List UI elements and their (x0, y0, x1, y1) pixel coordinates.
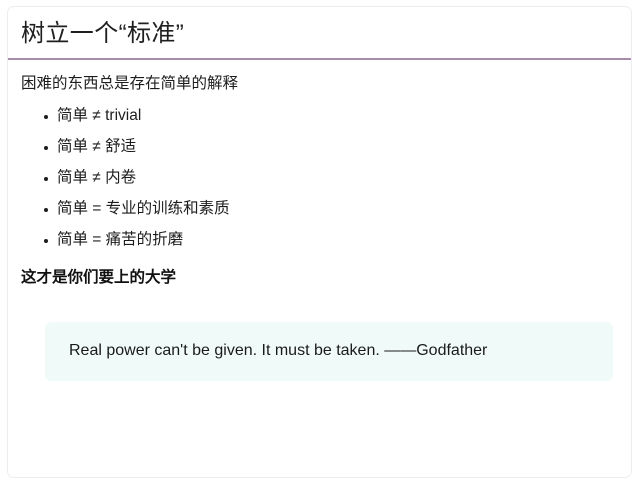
list-item: 简单 = 痛苦的折磨 (21, 230, 618, 251)
list-item: 简单 ≠ trivial (21, 106, 618, 127)
slide-card: 树立一个“标准” 困难的东西总是存在简单的解释 简单 ≠ trivial 简单 … (7, 6, 632, 478)
quote-text: Real power can't be given. It must be ta… (69, 341, 613, 362)
page-title: 树立一个“标准” (8, 7, 631, 58)
emphasis-statement: 这才是你们要上的大学 (21, 267, 618, 289)
list-item: 简单 = 专业的训练和素质 (21, 199, 618, 220)
quote-callout: Real power can't be given. It must be ta… (45, 322, 613, 381)
list-item: 简单 ≠ 舒适 (21, 137, 618, 158)
lead-paragraph: 困难的东西总是存在简单的解释 (21, 60, 618, 95)
slide-body: 困难的东西总是存在简单的解释 简单 ≠ trivial 简单 ≠ 舒适 简单 ≠… (8, 60, 631, 381)
list-item: 简单 ≠ 内卷 (21, 168, 618, 189)
bullet-list: 简单 ≠ trivial 简单 ≠ 舒适 简单 ≠ 内卷 简单 = 专业的训练和… (21, 106, 618, 251)
